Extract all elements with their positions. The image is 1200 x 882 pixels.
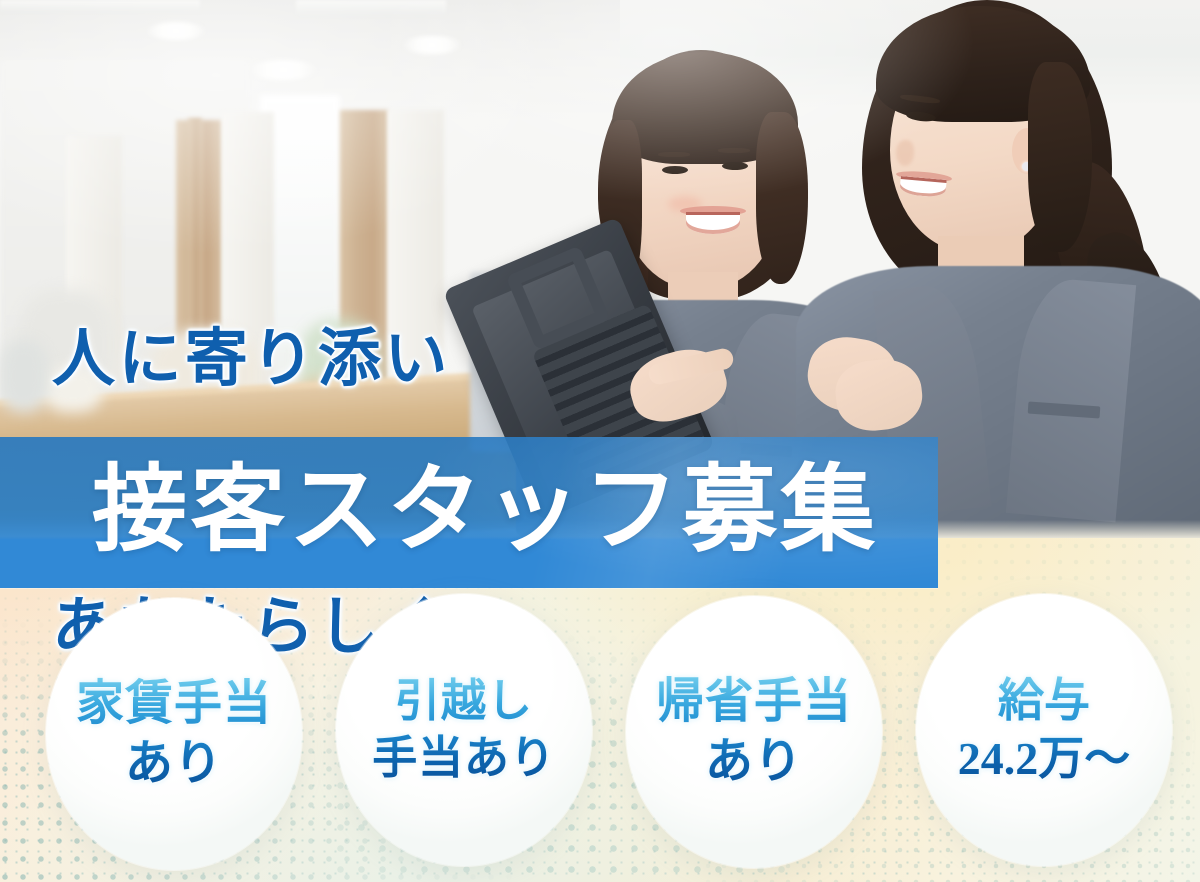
- ceiling-light-icon: [404, 36, 460, 54]
- tagline-line-1: 人に寄り添い: [52, 315, 572, 404]
- smile-mouth: [686, 212, 740, 234]
- nose: [896, 140, 914, 166]
- eyebrow-right: [718, 148, 750, 153]
- benefit-circle-return-home-allowance[interactable]: 帰省手当あり: [626, 596, 882, 868]
- benefit-label: 帰省手当あり: [650, 672, 858, 793]
- benefit-circle-moving-allowance[interactable]: 引越し手当あり: [336, 594, 592, 866]
- benefit-label: 給与24.2万〜: [952, 672, 1137, 788]
- benefit-label: 家賃手当あり: [70, 674, 278, 795]
- eyebrow-left: [658, 152, 690, 157]
- ceiling-panel: [296, 0, 446, 16]
- ceiling-light-icon: [148, 22, 204, 40]
- benefit-circle-rent-allowance[interactable]: 家賃手当あり: [46, 598, 302, 870]
- eye-left: [662, 166, 688, 174]
- benefit-circles: 家賃手当あり 引越し手当あり 帰省手当あり 給与24.2万〜: [0, 538, 1200, 882]
- recruitment-banner: 人に寄り添い あなたらしく。 接客スタッフ募集 家賃手当あり 引越し手当あり 帰…: [0, 0, 1200, 882]
- ceiling-panel: [0, 0, 200, 12]
- hair-side-right: [756, 112, 808, 284]
- benefit-label: 引越し手当あり: [366, 673, 562, 786]
- eye-right: [722, 162, 748, 170]
- benefit-circle-salary[interactable]: 給与24.2万〜: [916, 594, 1172, 866]
- ceiling-light-icon: [250, 60, 316, 80]
- hair-side-right: [1028, 62, 1092, 252]
- desk-object: [0, 340, 48, 412]
